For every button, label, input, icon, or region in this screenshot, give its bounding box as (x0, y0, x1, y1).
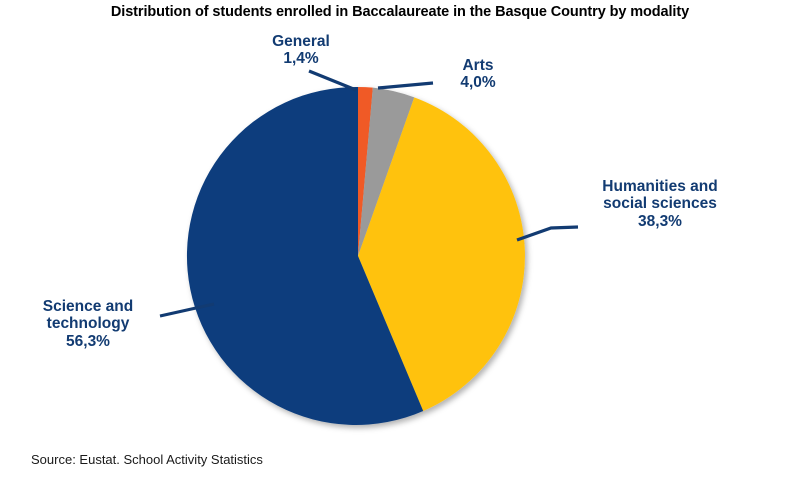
slice-label-arts-value: 4,0% (432, 74, 524, 91)
slice-label-humanities: Humanities and social sciences 38,3% (576, 178, 744, 230)
slice-label-general-name: General (242, 33, 360, 50)
leader-line-arts (378, 83, 433, 88)
slice-label-humanities-name-line2: social sciences (576, 195, 744, 212)
leader-line-humanities (517, 227, 578, 240)
pie-graphic (0, 0, 800, 486)
slice-label-general: General 1,4% (242, 33, 360, 68)
pie-slices-group (187, 87, 525, 425)
slice-label-humanities-name-line1: Humanities and (576, 178, 744, 195)
slice-label-general-value: 1,4% (242, 50, 360, 67)
slice-label-science-name-line1: Science and (14, 298, 162, 315)
slice-label-arts-name: Arts (432, 57, 524, 74)
chart-source-note: Source: Eustat. School Activity Statisti… (31, 452, 263, 467)
slice-label-science-value: 56,3% (14, 333, 162, 350)
slice-label-arts: Arts 4,0% (432, 57, 524, 92)
pie-chart-figure: Distribution of students enrolled in Bac… (0, 0, 800, 486)
slice-label-science: Science and technology 56,3% (14, 298, 162, 350)
leader-line-general (309, 71, 356, 90)
slice-label-humanities-value: 38,3% (576, 213, 744, 230)
slice-label-science-name-line2: technology (14, 315, 162, 332)
